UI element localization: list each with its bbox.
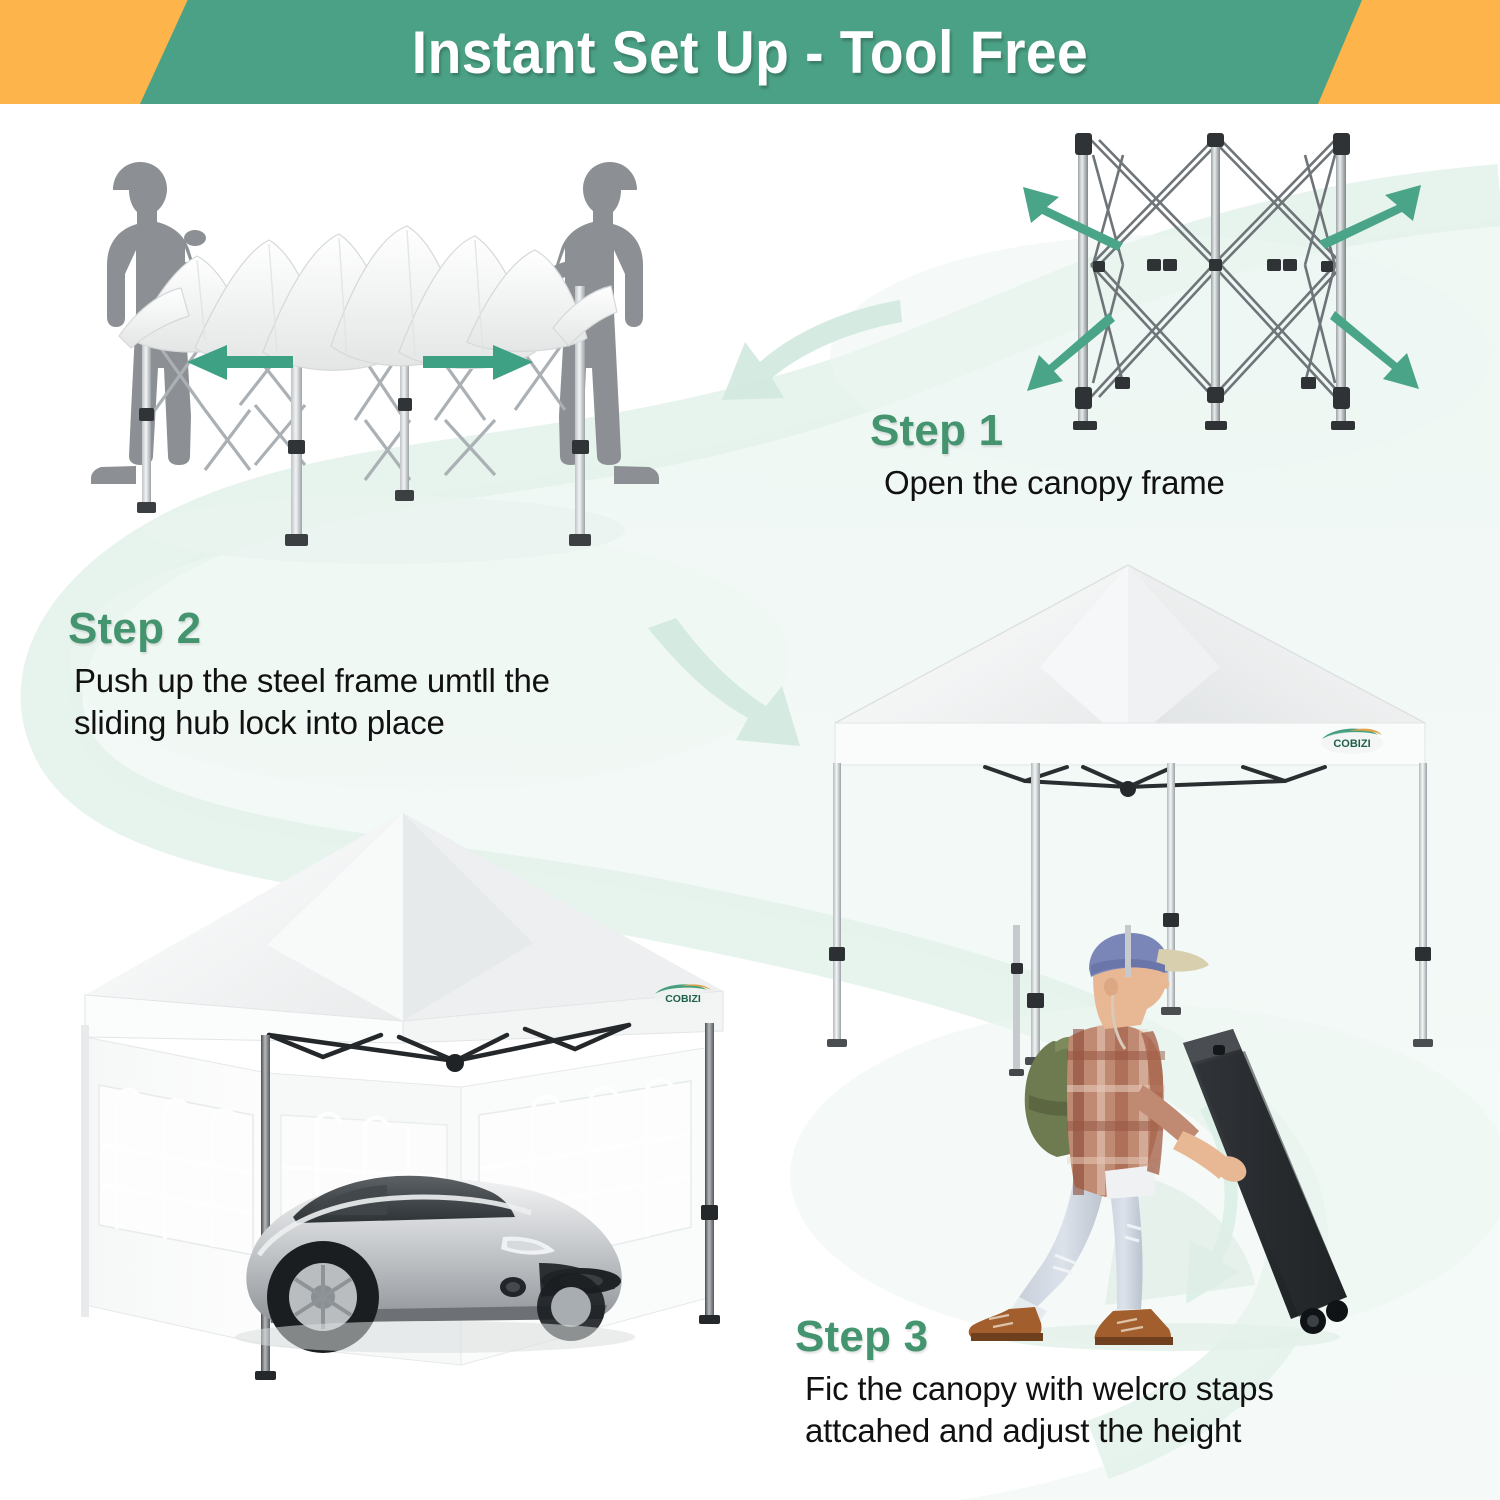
canopy-fabric [119, 226, 617, 370]
step-3-title: Step 3 [795, 1314, 1395, 1360]
carport-roof [85, 813, 723, 1043]
header-banner: Instant Set Up - Tool Free [0, 0, 1500, 104]
step-1-description: Open the canopy frame [884, 462, 1328, 504]
connector-arrow-2 [648, 618, 800, 746]
carry-bag-svg [955, 925, 1385, 1355]
step-2-block: Step 2 Push up the steel frame umtll the… [68, 606, 668, 745]
scissor-frame-svg [1005, 115, 1455, 445]
step-1-block: Step 1 Open the canopy frame [868, 408, 1328, 504]
svg-text:COBIZI: COBIZI [665, 993, 701, 1005]
illustration-folded-scissor-frame [1005, 115, 1455, 445]
connector-arrow-1 [722, 300, 902, 400]
illustration-two-people-unfolding-canopy [55, 140, 695, 570]
infographic-page: Instant Set Up - Tool Free [0, 0, 1500, 1500]
sidewall-left [85, 1037, 267, 1345]
step-2-description-line1: Push up the steel frame umtll the [74, 660, 668, 702]
step-3-description-line1: Fic the canopy with welcro staps [805, 1368, 1395, 1410]
step-1-title: Step 1 [870, 408, 1328, 454]
brand-logo-text: COBIZI [1333, 738, 1370, 750]
step-3-description-line2: attcahed and adjust the height [805, 1410, 1395, 1452]
step-3-block: Step 3 Fic the canopy with welcro staps … [795, 1314, 1395, 1453]
step-2-description-line2: sliding hub lock into place [74, 702, 668, 744]
illustration-canopy-with-sidewalls-and-car: COBIZI [55, 785, 755, 1385]
illustration-man-carrying-bag [955, 925, 1385, 1355]
step-2-title: Step 2 [68, 606, 668, 652]
carport-svg: COBIZI [55, 785, 755, 1385]
unfolding-canopy-svg [55, 140, 695, 570]
carport-truss-hub [446, 1054, 464, 1072]
page-title: Instant Set Up - Tool Free [60, 0, 1440, 104]
truss-hub [1120, 781, 1136, 797]
